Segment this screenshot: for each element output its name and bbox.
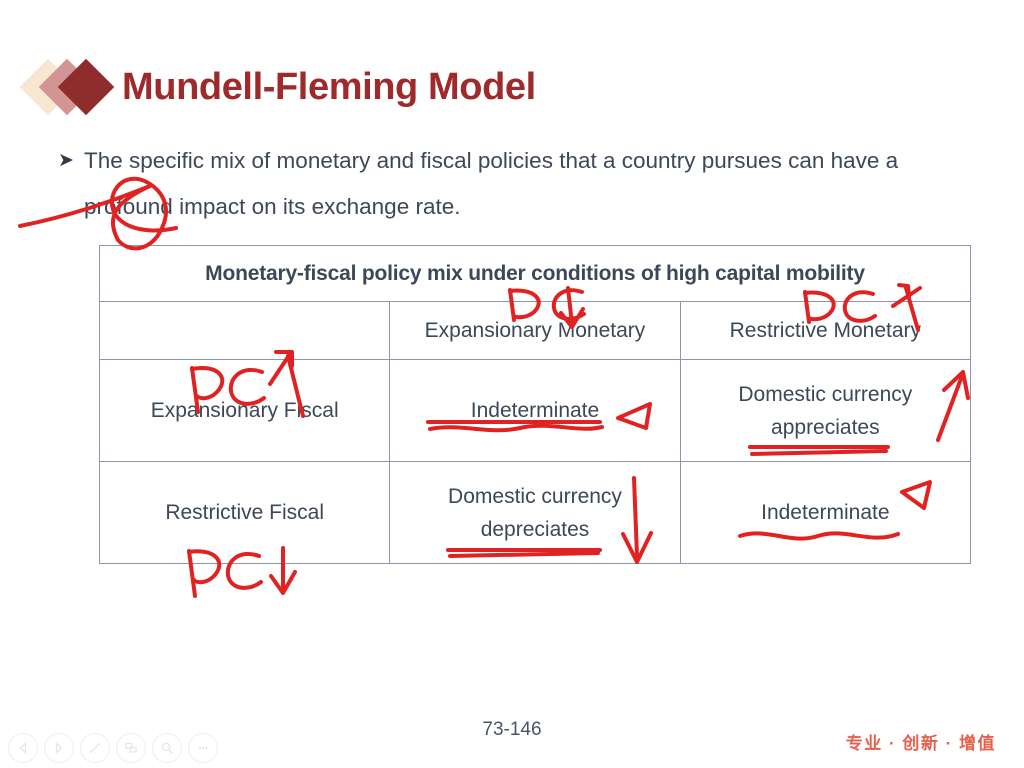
column-header-expansionary-monetary: Expansionary Monetary bbox=[390, 302, 680, 360]
table-header-row: Expansionary Monetary Restrictive Moneta… bbox=[100, 302, 971, 360]
next-slide-button[interactable] bbox=[44, 733, 74, 763]
triangle-right-icon bbox=[53, 742, 65, 754]
pen-icon bbox=[88, 741, 102, 755]
table-row: Restrictive Fiscal Domestic currency dep… bbox=[100, 462, 971, 564]
row-label-expansionary-fiscal: Expansionary Fiscal bbox=[100, 360, 390, 462]
prev-slide-button[interactable] bbox=[8, 733, 38, 763]
diamond-decoration bbox=[28, 58, 116, 116]
cell-res-fiscal-res-monetary: Indeterminate bbox=[680, 462, 970, 564]
presentation-slide: Mundell-Fleming Model ➤ The specific mix… bbox=[0, 0, 1024, 768]
ellipsis-icon bbox=[196, 741, 210, 755]
cell-exp-fiscal-res-monetary: Domestic currency appreciates bbox=[680, 360, 970, 462]
pen-tool-button[interactable] bbox=[80, 733, 110, 763]
table-caption-row: Monetary-fiscal policy mix under conditi… bbox=[100, 246, 971, 302]
title-row: Mundell-Fleming Model bbox=[28, 58, 536, 116]
grid-icon bbox=[124, 741, 138, 755]
policy-mix-table: Monetary-fiscal policy mix under conditi… bbox=[99, 245, 971, 564]
zoom-tool-button[interactable] bbox=[152, 733, 182, 763]
magnifier-icon bbox=[160, 741, 174, 755]
page-title: Mundell-Fleming Model bbox=[122, 66, 536, 109]
table-row: Expansionary Fiscal Indeterminate Domest… bbox=[100, 360, 971, 462]
brand-slogan: 专业 · 创新 · 增值 bbox=[846, 729, 996, 754]
more-options-button[interactable] bbox=[188, 733, 218, 763]
triangle-left-icon bbox=[17, 742, 29, 754]
slide-toolbar bbox=[8, 733, 218, 763]
bullet-block: ➤ The specific mix of monetary and fisca… bbox=[58, 138, 958, 230]
cell-exp-fiscal-exp-monetary: Indeterminate bbox=[390, 360, 680, 462]
slide-grid-button[interactable] bbox=[116, 733, 146, 763]
cell-res-fiscal-exp-monetary: Domestic currency depreciates bbox=[390, 462, 680, 564]
bullet-text: The specific mix of monetary and fiscal … bbox=[84, 138, 944, 230]
table-caption: Monetary-fiscal policy mix under conditi… bbox=[100, 246, 971, 302]
column-header-restrictive-monetary: Restrictive Monetary bbox=[680, 302, 970, 360]
table-corner-cell bbox=[100, 302, 390, 360]
row-label-restrictive-fiscal: Restrictive Fiscal bbox=[100, 462, 390, 564]
bullet-arrow-icon: ➤ bbox=[58, 138, 84, 184]
